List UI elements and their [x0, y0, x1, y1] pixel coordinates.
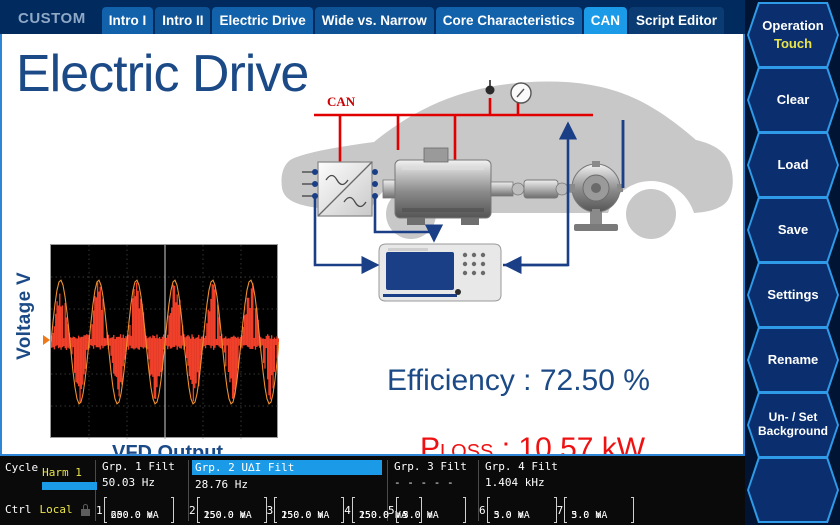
electric-motor	[383, 148, 513, 225]
sidebar-button-rename[interactable]: Rename	[749, 329, 837, 391]
power-analyzer-device	[379, 244, 501, 301]
can-label: CAN	[327, 94, 356, 109]
lock-icon[interactable]	[81, 504, 90, 516]
channel-number: 3	[267, 504, 274, 517]
ploss-separator: :	[493, 432, 518, 456]
group-frequency: 28.76 Hz	[195, 478, 383, 491]
waveform-svg	[51, 245, 279, 439]
efficiency-label: Efficiency :	[387, 364, 540, 397]
ploss-value: 10.57 kW	[518, 432, 645, 456]
app-root: CUSTOM Intro I Intro II Electric Drive W…	[0, 0, 840, 525]
sidebar-button-label: Load	[777, 158, 808, 173]
tab-intro-ii[interactable]: Intro II	[155, 7, 210, 34]
status-groups: Grp. 1 Filt50.03 Hz1250.0 V600.0 mAGrp. …	[96, 456, 745, 525]
current-value: 5.0 mA	[403, 510, 439, 521]
tab-electric-drive[interactable]: Electric Drive	[212, 7, 312, 34]
group-frequency: 1.404 kHz	[485, 476, 625, 489]
channel-2[interactable]: 2250.0 V150.0 mA	[189, 497, 267, 523]
group-channels: 53.0 V5.0 mA	[388, 497, 466, 523]
current-value: 600.0 mA	[111, 510, 159, 521]
efficiency-value: 72.50 %	[540, 364, 650, 397]
tab-wide-vs-narrow[interactable]: Wide vs. Narrow	[315, 7, 434, 34]
current-value: 150.0 mA	[204, 510, 252, 521]
channel-number: 1	[96, 504, 103, 517]
ploss-symbol: P	[420, 432, 440, 456]
bracket-left-icon	[396, 497, 399, 523]
tab-script-editor[interactable]: Script Editor	[629, 7, 724, 34]
scope-y-label: Voltage V	[14, 272, 36, 360]
sidebar-button-label: Rename	[768, 353, 819, 368]
sidebar-button-save[interactable]: Save	[749, 199, 837, 261]
bracket-left-icon	[197, 497, 200, 523]
group-channels: 2250.0 V150.0 mA3250.0 V150.0 mA4250.0 V…	[189, 497, 422, 523]
bracket-right-icon	[463, 497, 466, 523]
sensor-icons	[486, 80, 532, 103]
cycle-value[interactable]: Harm 1	[42, 466, 82, 479]
channel-5[interactable]: 53.0 V5.0 mA	[388, 497, 466, 523]
sidebar-button-sublabel: Touch	[774, 37, 812, 52]
status-group-4[interactable]: Grp. 4 Filt1.404 kHz63.0 V5.0 mA73.0 V5.…	[479, 456, 629, 525]
channel-number: 7	[557, 504, 564, 517]
group-frequency: - - - - -	[394, 476, 474, 489]
tab-core-characteristics[interactable]: Core Characteristics	[436, 7, 582, 34]
bracket-left-icon	[352, 497, 355, 523]
sidebar-button-label: Settings	[767, 288, 818, 303]
status-control-block: Cycle Harm 1 Ctrl Local	[0, 456, 95, 525]
sidebar: OperationTouchClearLoadSaveSettingsRenam…	[745, 0, 840, 525]
dynamometer	[569, 161, 623, 231]
page-title: Electric Drive	[16, 48, 308, 100]
sidebar-button-load[interactable]: Load	[749, 134, 837, 196]
cycle-bar	[42, 482, 97, 490]
bracket-right-icon	[631, 497, 634, 523]
channel-number: 5	[388, 504, 395, 517]
current-value: 5.0 mA	[571, 510, 607, 521]
group-header: Grp. 1 Filt	[102, 460, 184, 473]
sidebar-button-label: Save	[778, 223, 808, 238]
status-group-3[interactable]: Grp. 3 Filt- - - - -53.0 V5.0 mA	[388, 456, 478, 525]
main-panel: Electric Drive	[0, 34, 745, 456]
inverter-output-terminals	[372, 169, 378, 199]
ploss-subscript: LOSS	[440, 441, 493, 456]
channel-number: 4	[344, 504, 351, 517]
current-value: 5.0 mA	[494, 510, 530, 521]
custom-label: CUSTOM	[8, 11, 100, 34]
sidebar-button-settings[interactable]: Settings	[749, 264, 837, 326]
power-loss-readout: PLOSS : 10.57 kW	[420, 432, 645, 456]
waveform-display[interactable]	[50, 244, 278, 438]
inverter-input-terminals	[302, 169, 318, 199]
ctrl-label: Ctrl	[5, 503, 32, 516]
trigger-marker-icon	[43, 335, 50, 345]
status-bar: Cycle Harm 1 Ctrl Local Grp. 1 Filt50.03…	[0, 456, 745, 525]
group-header: Grp. 4 Filt	[485, 460, 625, 473]
bracket-left-icon	[564, 497, 567, 523]
channel-number: 2	[189, 504, 196, 517]
group-header: Grp. 2 U∆I Filt	[192, 460, 382, 475]
drivetrain-diagram: CAN	[278, 62, 738, 302]
sidebar-button-operation[interactable]: OperationTouch	[749, 4, 837, 66]
cycle-label: Cycle	[5, 461, 38, 474]
tab-can[interactable]: CAN	[584, 7, 627, 34]
sidebar-button-label: Operation	[762, 19, 823, 34]
group-frequency: 50.03 Hz	[102, 476, 184, 489]
efficiency-readout: Efficiency : 72.50 %	[387, 364, 650, 398]
tab-bar: CUSTOM Intro I Intro II Electric Drive W…	[0, 0, 745, 34]
ctrl-value[interactable]: Local	[40, 503, 73, 516]
group-channels: 1250.0 V600.0 mA	[96, 497, 174, 523]
channel-7[interactable]: 73.0 V5.0 mA	[557, 497, 635, 523]
scope-caption: VFD Output	[112, 442, 223, 456]
bracket-left-icon	[487, 497, 490, 523]
status-group-2[interactable]: Grp. 2 U∆I Filt28.76 Hz2250.0 V150.0 mA3…	[189, 456, 387, 525]
bracket-left-icon	[274, 497, 277, 523]
inverter-box	[318, 162, 372, 216]
bracket-left-icon	[104, 497, 107, 523]
channel-6[interactable]: 63.0 V5.0 mA	[479, 497, 557, 523]
sidebar-button-clear[interactable]: Clear	[749, 69, 837, 131]
bracket-right-icon	[171, 497, 174, 523]
sidebar-button-un-set-background[interactable]: Un- / Set Background	[749, 394, 837, 456]
current-value: 150.0 mA	[281, 510, 329, 521]
scope-panel: Voltage V	[50, 244, 285, 444]
tab-intro-i[interactable]: Intro I	[102, 7, 154, 34]
sidebar-button-empty[interactable]	[749, 459, 837, 521]
sidebar-button-label: Clear	[777, 93, 810, 108]
status-group-1[interactable]: Grp. 1 Filt50.03 Hz1250.0 V600.0 mA	[96, 456, 188, 525]
channel-1[interactable]: 1250.0 V600.0 mA	[96, 497, 174, 523]
group-header: Grp. 3 Filt	[394, 460, 474, 473]
channel-number: 6	[479, 504, 486, 517]
group-channels: 63.0 V5.0 mA73.0 V5.0 mA	[479, 497, 634, 523]
channel-3[interactable]: 3250.0 V150.0 mA	[267, 497, 345, 523]
sidebar-button-label: Un- / Set Background	[749, 411, 837, 439]
